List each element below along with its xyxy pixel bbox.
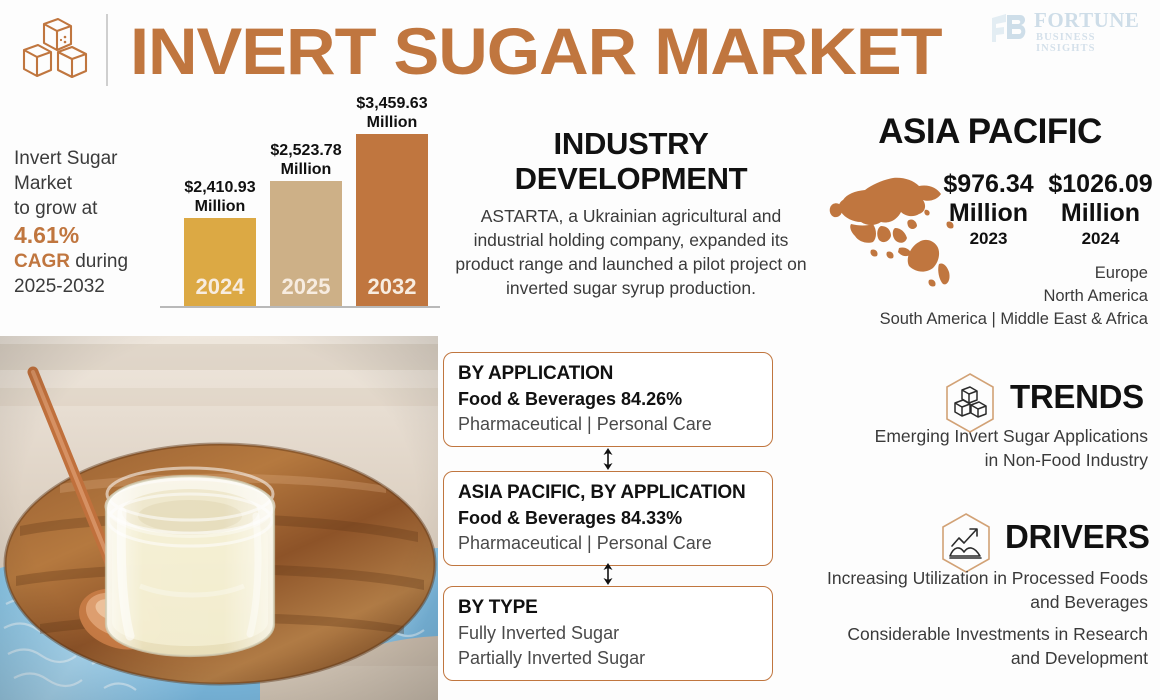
trends-body-line-1: Emerging Invert Sugar Applications xyxy=(760,424,1148,448)
asia-pacific-title: ASIA PACIFIC xyxy=(820,112,1160,152)
market-size-bar-chart: $2,410.93Million 2024 $2,523.78Million 2… xyxy=(160,110,440,315)
bar-year-2032: 2032 xyxy=(356,274,428,300)
stat-unit-2023: Million xyxy=(926,199,1051,228)
fortune-business-insights-logo: FORTUNE BUSINESS INSIGHTS xyxy=(990,8,1150,50)
sugar-cubes-icon xyxy=(18,16,94,84)
trends-body: Emerging Invert Sugar Applications in No… xyxy=(760,424,1148,472)
cagr-line-1: Invert Sugar xyxy=(14,146,150,171)
cagr-line-2: Market xyxy=(14,171,150,196)
bar-year-2025: 2025 xyxy=(270,274,342,300)
cagr-line-3: to grow at xyxy=(14,196,150,221)
segment-secondary: Pharmaceutical | Personal Care xyxy=(458,412,758,437)
stat-amount-2024: $1026.09 xyxy=(1038,170,1160,199)
asia-pacific-stat-2024: $1026.09 Million 2024 xyxy=(1038,170,1160,250)
segment-primary: Fully Inverted Sugar xyxy=(458,621,758,646)
industry-development-section: INDUSTRY DEVELOPMENT ASTARTA, a Ukrainia… xyxy=(446,126,816,300)
brand-tagline: BUSINESS INSIGHTS xyxy=(1036,32,1150,54)
industry-development-title-1: INDUSTRY xyxy=(446,126,816,161)
infographic-page: INVERT SUGAR MARKET FORTUNE BUSINESS INS… xyxy=(0,0,1160,700)
region-south-america-mea: South America | Middle East & Africa xyxy=(820,308,1148,331)
chart-baseline xyxy=(160,306,440,308)
segment-heading: BY APPLICATION xyxy=(458,361,758,387)
segment-box-asia-pacific-by-application[interactable]: ASIA PACIFIC, BY APPLICATION Food & Beve… xyxy=(443,471,773,566)
bar-value-2032: $3,459.63Million xyxy=(328,94,456,132)
segment-secondary: Partially Inverted Sugar xyxy=(458,646,758,671)
segment-primary: Food & Beverages 84.33% xyxy=(458,506,758,531)
cagr-rate: 4.61% xyxy=(14,221,150,249)
header: INVERT SUGAR MARKET FORTUNE BUSINESS INS… xyxy=(0,0,1160,100)
connector-arrow-1 xyxy=(600,448,616,470)
stat-unit-2024: Million xyxy=(1038,199,1160,228)
page-title: INVERT SUGAR MARKET xyxy=(130,10,920,92)
region-list: Europe North America South America | Mid… xyxy=(820,262,1160,331)
drivers-item-1: Increasing Utilization in Processed Food… xyxy=(760,566,1148,614)
connector-arrow-2 xyxy=(600,563,616,585)
trends-body-line-2: in Non-Food Industry xyxy=(760,448,1148,472)
growth-chart-hex-icon xyxy=(936,512,996,574)
stat-amount-2023: $976.34 xyxy=(926,170,1051,199)
cagr-period: 2025-2032 xyxy=(14,274,150,299)
drivers-item-2-line-1: Considerable Investments in Research xyxy=(760,622,1148,646)
cagr-label: CAGR xyxy=(14,251,70,272)
bar-value-2024: $2,410.93Million xyxy=(156,178,284,216)
trends-title: TRENDS xyxy=(1010,378,1144,416)
fb-monogram-icon xyxy=(990,12,1030,44)
segment-primary: Food & Beverages 84.26% xyxy=(458,387,758,412)
segment-heading: ASIA PACIFIC, BY APPLICATION xyxy=(458,480,758,506)
invert-sugar-syrup-jar-photo xyxy=(0,336,438,700)
stat-year-2023: 2023 xyxy=(926,228,1051,250)
segment-box-by-application[interactable]: BY APPLICATION Food & Beverages 84.26% P… xyxy=(443,352,773,447)
stat-year-2024: 2024 xyxy=(1038,228,1160,250)
header-divider xyxy=(106,14,108,86)
drivers-title: DRIVERS xyxy=(1005,518,1150,556)
segment-secondary: Pharmaceutical | Personal Care xyxy=(458,531,758,556)
drivers-item-1-line-1: Increasing Utilization in Processed Food… xyxy=(760,566,1148,590)
brand-name: FORTUNE xyxy=(1034,8,1139,33)
cagr-label-row: CAGR during xyxy=(14,249,150,274)
industry-development-title-2: DEVELOPMENT xyxy=(446,161,816,196)
drivers-item-2-line-2: and Development xyxy=(760,646,1148,670)
cagr-during: during xyxy=(70,251,128,272)
cagr-summary: Invert Sugar Market to grow at 4.61% CAG… xyxy=(14,146,150,299)
drivers-item-2: Considerable Investments in Research and… xyxy=(760,622,1148,670)
bar-year-2024: 2024 xyxy=(184,274,256,300)
segment-heading: BY TYPE xyxy=(458,595,758,621)
region-europe: Europe xyxy=(820,262,1148,285)
asia-pacific-stat-2023: $976.34 Million 2023 xyxy=(926,170,1051,250)
bar-value-2025: $2,523.78Million xyxy=(242,141,370,179)
region-north-america: North America xyxy=(820,285,1148,308)
drivers-item-1-line-2: and Beverages xyxy=(760,590,1148,614)
industry-development-body: ASTARTA, a Ukrainian agricultural and in… xyxy=(446,204,816,300)
segment-box-by-type[interactable]: BY TYPE Fully Inverted Sugar Partially I… xyxy=(443,586,773,681)
